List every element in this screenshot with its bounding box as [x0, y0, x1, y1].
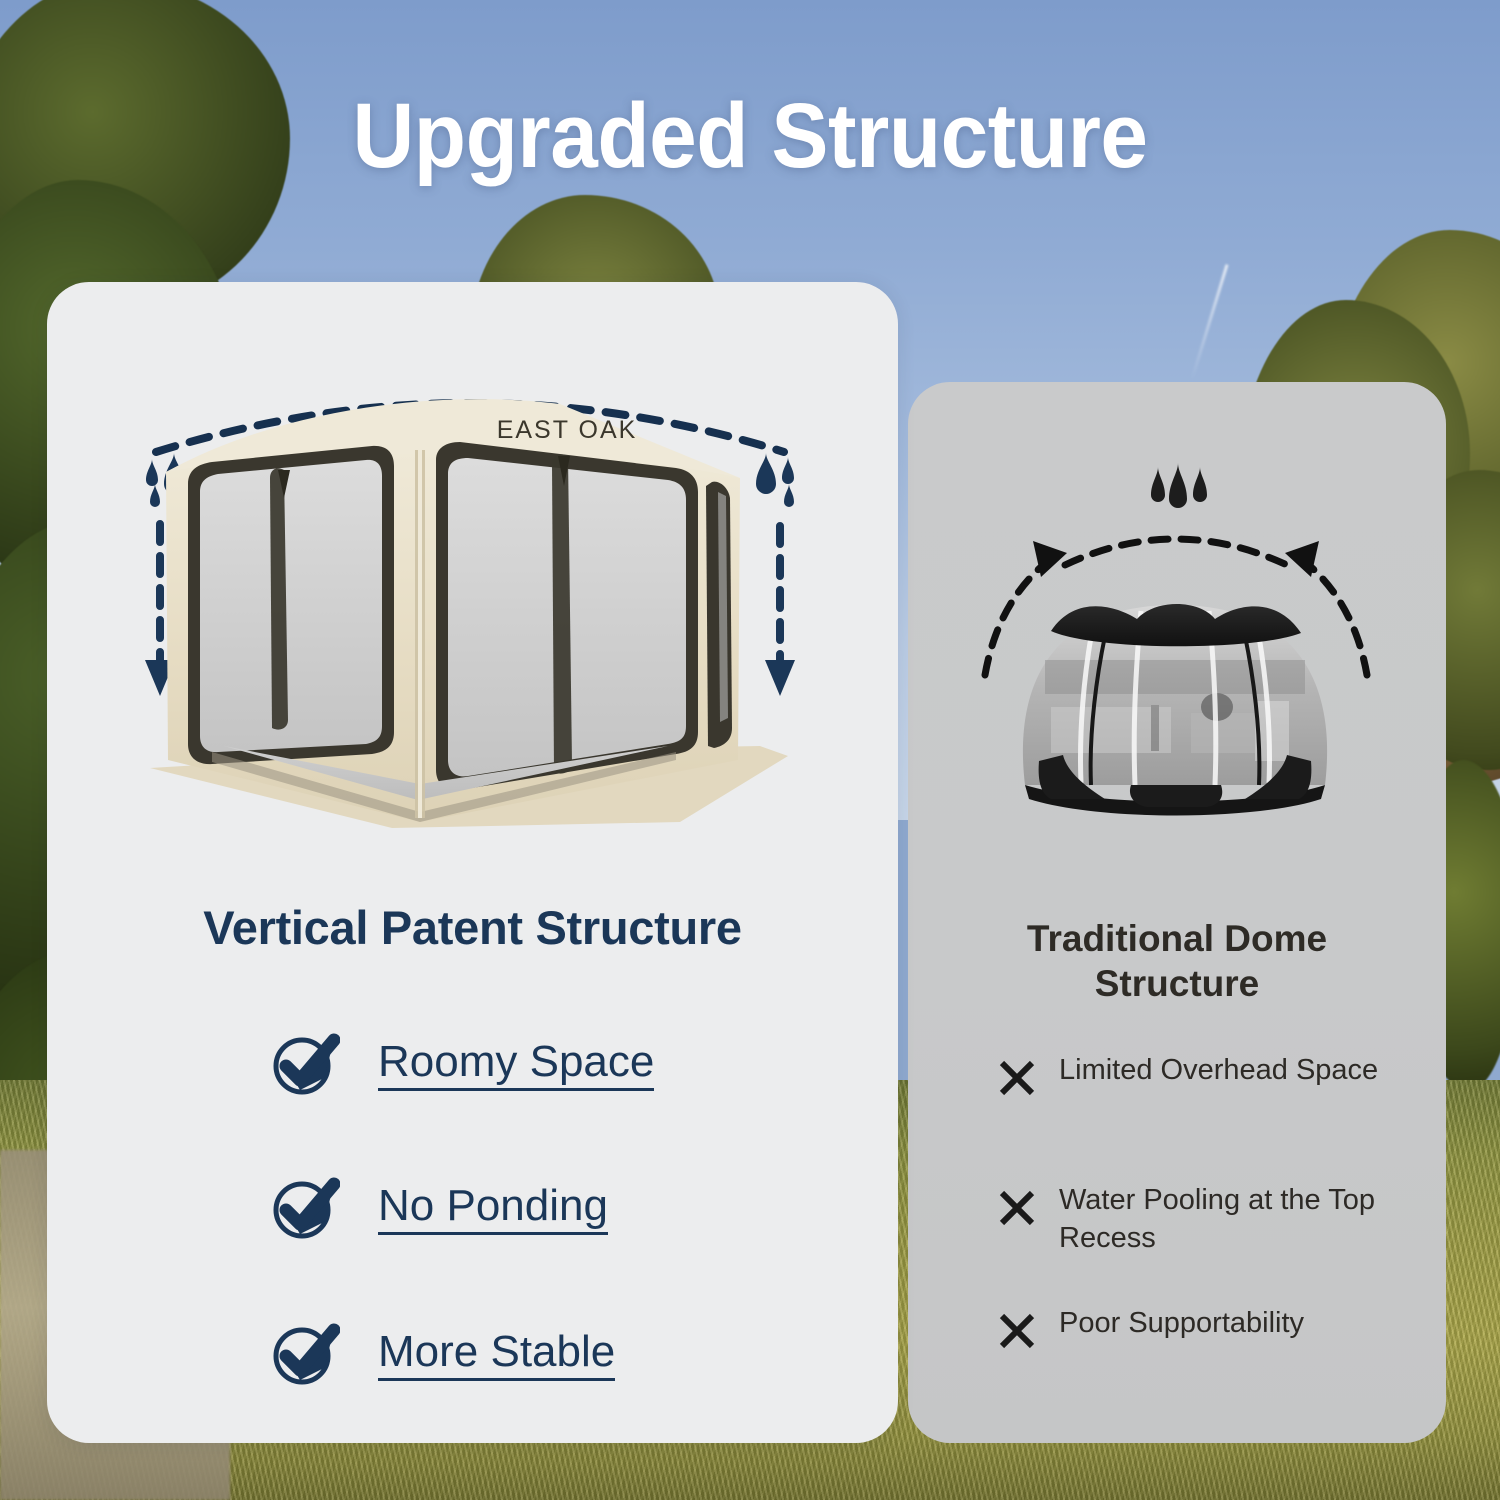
right-card-heading: Traditional Dome Structure: [908, 916, 1446, 1006]
check-circle-icon: [268, 1172, 340, 1244]
gazebo-side-panel: [706, 482, 732, 748]
traditional-dome-illustration: [955, 455, 1395, 845]
feature-row: Roomy Space: [268, 1028, 654, 1100]
right-card-heading-line1: Traditional Dome: [908, 916, 1446, 961]
runoff-arrow-right: [765, 526, 795, 696]
brand-label: EAST OAK: [497, 416, 638, 444]
feature-row: More Stable: [268, 1318, 615, 1390]
drawback-row: Poor Supportability: [995, 1305, 1425, 1353]
vertical-patent-gazebo-illustration: EAST OAK: [120, 360, 820, 860]
right-card-heading-line2: Structure: [908, 961, 1446, 1006]
gazebo-mesh-panel-right: [436, 442, 698, 790]
feature-label: No Ponding: [378, 1181, 608, 1235]
x-mark-icon: [995, 1186, 1039, 1230]
infographic-canvas: Upgraded Structure: [0, 0, 1500, 1500]
dome-top-recess: [1051, 604, 1301, 646]
gazebo-mesh-panel-left: [188, 446, 394, 764]
drawback-row: Water Pooling at the Top Recess: [995, 1182, 1425, 1257]
drawback-label: Water Pooling at the Top Recess: [1059, 1182, 1425, 1257]
check-circle-icon: [268, 1028, 340, 1100]
dome-profile-arc: [1065, 539, 1287, 565]
left-card-heading: Vertical Patent Structure: [47, 900, 898, 955]
drawback-row: Limited Overhead Space: [995, 1052, 1425, 1100]
page-title: Upgraded Structure: [53, 84, 1448, 189]
feature-row: No Ponding: [268, 1172, 608, 1244]
water-drops-right-icon: [756, 453, 794, 507]
x-mark-icon: [995, 1309, 1039, 1353]
x-mark-icon: [995, 1056, 1039, 1100]
water-drops-pooling-icon: [1151, 463, 1207, 508]
feature-label: More Stable: [378, 1327, 615, 1381]
feature-label: Roomy Space: [378, 1037, 654, 1091]
drawback-label: Poor Supportability: [1059, 1305, 1304, 1343]
drawback-label: Limited Overhead Space: [1059, 1052, 1378, 1090]
check-circle-icon: [268, 1318, 340, 1390]
